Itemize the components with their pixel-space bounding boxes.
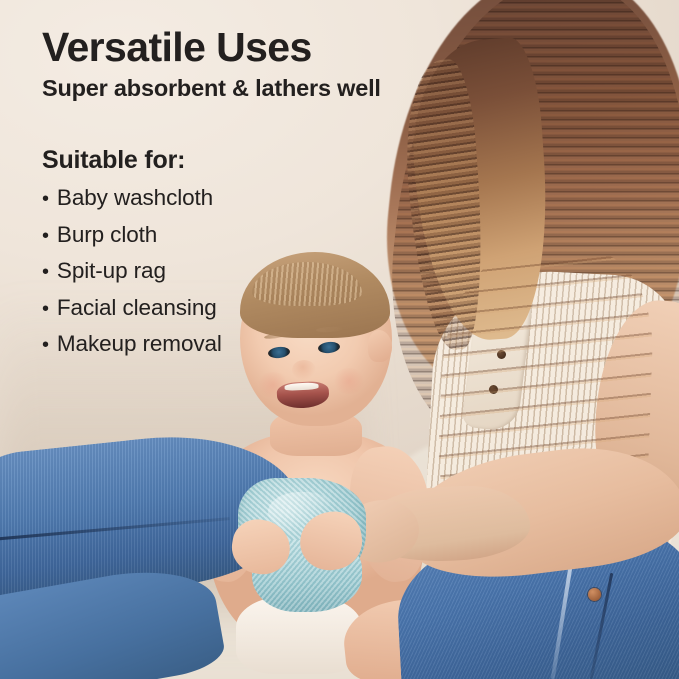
uses-list: • Baby washcloth • Burp cloth • Spit-up … — [42, 185, 462, 357]
bullet-icon: • — [42, 335, 49, 355]
product-lifestyle-image: Versatile Uses Super absorbent & lathers… — [0, 0, 679, 679]
list-item-label: Facial cleansing — [57, 295, 217, 321]
baby-cheek-right — [332, 368, 366, 394]
bullet-icon: • — [42, 189, 49, 209]
list-item: • Facial cleansing — [42, 295, 462, 321]
jeans-button — [588, 588, 601, 601]
list-item: • Baby washcloth — [42, 185, 462, 211]
bullet-icon: • — [42, 226, 49, 246]
list-item: • Burp cloth — [42, 222, 462, 248]
suitable-for-label: Suitable for: — [42, 146, 462, 175]
page-title: Versatile Uses — [42, 26, 462, 69]
list-item: • Makeup removal — [42, 331, 462, 357]
list-item-label: Makeup removal — [57, 331, 222, 357]
marketing-text-block: Versatile Uses Super absorbent & lathers… — [42, 26, 462, 368]
list-item-label: Spit-up rag — [57, 258, 166, 284]
list-item: • Spit-up rag — [42, 258, 462, 284]
list-item-label: Baby washcloth — [57, 185, 213, 211]
bullet-icon: • — [42, 299, 49, 319]
list-item-label: Burp cloth — [57, 222, 157, 248]
bullet-icon: • — [42, 262, 49, 282]
subtitle: Super absorbent & lathers well — [42, 75, 462, 102]
baby-teeth — [284, 382, 318, 391]
